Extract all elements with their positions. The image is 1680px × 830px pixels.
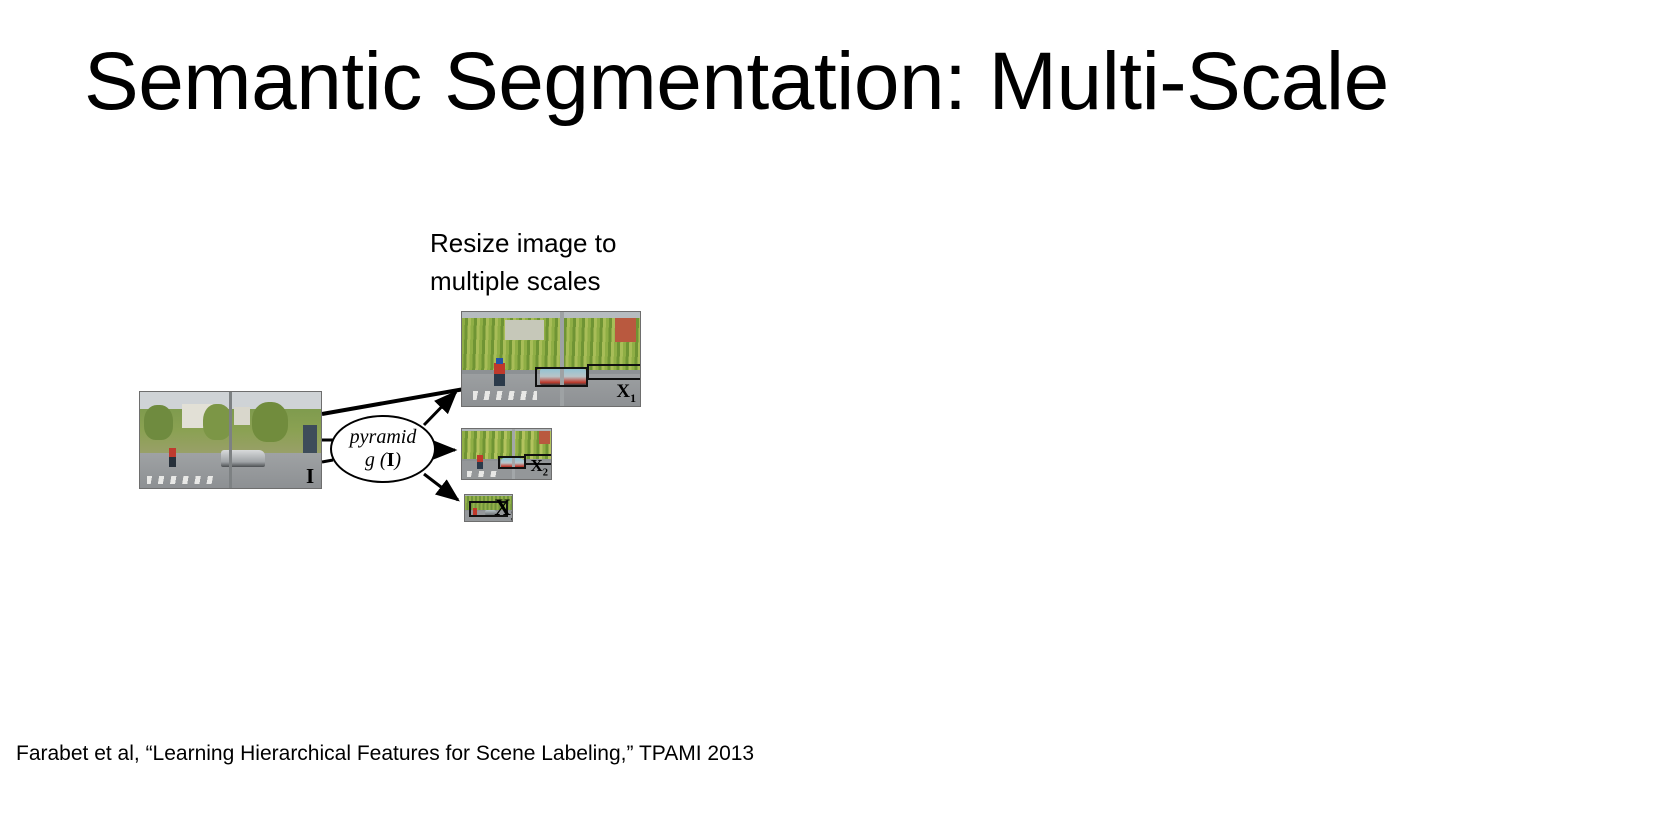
scale-image-1: X1 (461, 311, 641, 407)
pyramid-function-node: pyramid g (I) (330, 415, 436, 483)
pedestrian-torso (477, 455, 483, 462)
pedestrian-legs (494, 374, 505, 386)
building-right (539, 431, 551, 444)
citation-footer: Farabet et al, “Learning Hierarchical Fe… (16, 740, 754, 768)
crosswalk (467, 471, 499, 477)
pedestrian-head (496, 358, 503, 364)
tree-1 (144, 405, 173, 440)
sign-pole (560, 312, 564, 406)
pedestrian-torso (169, 448, 176, 458)
scale-1-label-base: X (616, 381, 630, 402)
sign-pole (512, 429, 515, 479)
building-right (615, 318, 636, 342)
multi-scale-pyramid-figure: I X1 X2 (0, 0, 1680, 830)
pyramid-paren-close: ) (394, 449, 401, 471)
scale-image-1-label: X1 (616, 382, 636, 405)
building-left (505, 320, 544, 341)
scale-3-label-base: X (494, 495, 511, 520)
pyramid-label-line-1: pyramid (350, 426, 417, 448)
pyramid-paren-open: ( (380, 449, 387, 471)
scale-1-label-sub: 1 (630, 392, 636, 405)
input-image-label: I (306, 466, 314, 487)
bounding-box-1 (535, 367, 588, 388)
input-image (139, 391, 322, 489)
crosswalk (147, 476, 216, 485)
foliage-band (462, 318, 640, 371)
pyramid-label-group: pyramid g (I) (330, 415, 436, 483)
scale-2-label-base: X (530, 456, 542, 475)
scale-3-label-sub: 3 (511, 509, 513, 522)
building-right (234, 407, 250, 424)
pyramid-fn-name: g (365, 449, 375, 471)
sign-pole (229, 392, 232, 488)
pyramid-label-line-2: g (I) (365, 448, 401, 472)
scale-2-label-sub: 2 (543, 467, 548, 478)
input-image-label-text: I (306, 464, 314, 488)
scale-image-2: X2 (461, 428, 552, 480)
pedestrian-legs (477, 462, 483, 469)
bounding-box-1 (498, 456, 526, 469)
scale-image-2-label: X2 (530, 457, 548, 479)
scale-image-3: X3 (464, 494, 513, 522)
crosswalk (473, 391, 537, 400)
pedestrian-legs (169, 457, 176, 467)
scale-image-3-label: X3 (494, 496, 513, 522)
bounding-box-2 (587, 364, 641, 380)
pedestrian-torso (494, 363, 505, 374)
tree-3 (252, 402, 288, 442)
kiosk (303, 425, 317, 454)
